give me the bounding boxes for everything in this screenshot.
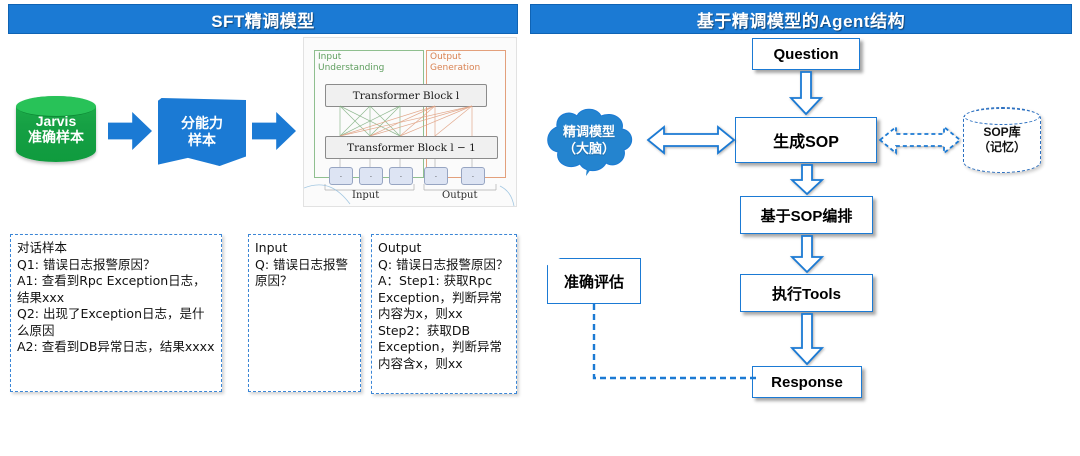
transformer-block-l-minus-1: Transformer Block l − 1 xyxy=(325,136,498,159)
fine-tuned-model-brain-cloud: 精调模型 （大脑） xyxy=(533,105,645,177)
output-card: Output Q: 错误日志报警原因？ A：Step1: 获取Rpc Excep… xyxy=(371,234,517,394)
arrow-down-icon-question-to-sop xyxy=(790,72,822,115)
arrow-down-icon-arrange-to-tools xyxy=(791,236,823,273)
arrow-down-icon-sop-to-arrange xyxy=(791,165,823,195)
jarvis-cylinder-line2: 准确样本 xyxy=(28,129,84,145)
capability-sample-shape: 分能力 样本 xyxy=(158,98,246,166)
arrow-right-icon-2 xyxy=(252,112,296,150)
arrange-by-sop-node[interactable]: 基于SOP编排 xyxy=(740,196,873,234)
double-arrow-horizontal-icon-brain-sop xyxy=(648,124,734,156)
transformer-input-label: Input xyxy=(352,190,379,201)
sop-store-line2: （记忆） xyxy=(978,140,1026,155)
panel-header-left: SFT精调模型 xyxy=(8,4,518,34)
diagram-canvas: SFT精调模型 基于精调模型的Agent结构 Jarvis 准确样本 分能力 样… xyxy=(0,0,1080,456)
input-card: Input Q: 错误日志报警原因？ xyxy=(248,234,361,392)
token-box-5: · xyxy=(461,167,485,185)
token-box-1: · xyxy=(329,167,353,185)
sample-shape-line2: 样本 xyxy=(188,132,216,150)
sop-store-cylinder: SOP库 （记忆） xyxy=(963,107,1041,173)
dashed-connector-brain-to-eval xyxy=(585,176,599,260)
dashed-elbow-connector-icon-response-to-eval xyxy=(588,300,760,386)
panel-header-right: 基于精调模型的Agent结构 xyxy=(530,4,1072,34)
question-node[interactable]: Question xyxy=(752,38,860,70)
brain-cloud-line1: 精调模型 xyxy=(563,124,615,141)
sop-store-line1: SOP库 xyxy=(983,125,1020,140)
token-box-3: · xyxy=(389,167,413,185)
brain-cloud-line2: （大脑） xyxy=(563,141,615,158)
accuracy-evaluation-node[interactable]: 准确评估 xyxy=(547,258,641,304)
jarvis-sample-cylinder: Jarvis 准确样本 xyxy=(16,96,96,162)
transformer-output-label: Output xyxy=(442,190,478,201)
generate-sop-node[interactable]: 生成SOP xyxy=(735,117,877,163)
sample-shape-line1: 分能力 xyxy=(181,115,223,133)
double-arrow-horizontal-dashed-icon-sop-store xyxy=(880,124,960,156)
token-box-4: · xyxy=(424,167,448,185)
jarvis-cylinder-line1: Jarvis xyxy=(36,113,76,129)
arrow-down-icon-tools-to-response xyxy=(791,314,823,365)
arrow-right-icon-1 xyxy=(108,112,152,150)
response-node[interactable]: Response xyxy=(752,366,862,398)
token-box-2: · xyxy=(359,167,383,185)
dialog-sample-card: 对话样本 Q1: 错误日志报警原因？ A1: 查看到Rpc Exception日… xyxy=(10,234,222,392)
transformer-architecture-figure: Input Understanding Output Generation Tr… xyxy=(303,37,517,207)
